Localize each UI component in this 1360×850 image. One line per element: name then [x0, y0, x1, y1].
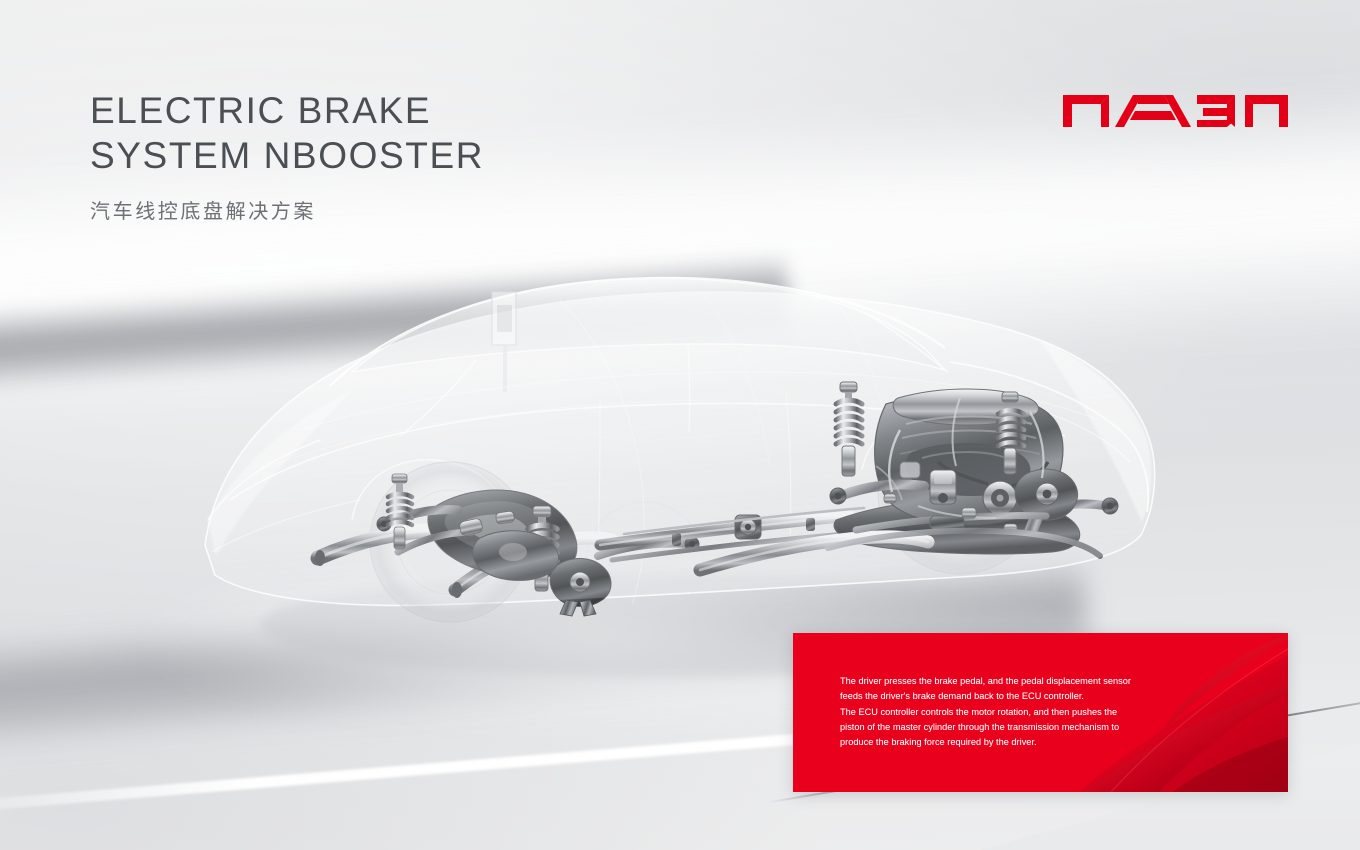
- nasn-logo-mark: [1063, 85, 1288, 130]
- callout-line-5: produce the braking force required by th…: [840, 735, 1140, 750]
- callout-text: The driver presses the brake pedal, and …: [840, 674, 1140, 750]
- page-subtitle: 汽车线控底盘解决方案: [90, 195, 710, 224]
- callout-line-3: The ECU controller controls the motor ro…: [840, 705, 1140, 720]
- nasn-logo: [1063, 85, 1288, 130]
- callout-panel: The driver presses the brake pedal, and …: [793, 633, 1288, 792]
- page-title-line-1: ELECTRIC BRAKE: [90, 88, 710, 133]
- page-title-line-2: SYSTEM NBOOSTER: [90, 133, 710, 178]
- callout-line-2: feeds the driver's brake demand back to …: [840, 689, 1140, 704]
- page-header: ELECTRIC BRAKE SYSTEM NBOOSTER 汽车线控底盘解决方…: [90, 88, 710, 224]
- presentation-slide: ELECTRIC BRAKE SYSTEM NBOOSTER 汽车线控底盘解决方…: [0, 0, 1360, 850]
- callout-line-1: The driver presses the brake pedal, and …: [840, 674, 1140, 689]
- callout-line-4: piston of the master cylinder through th…: [840, 720, 1140, 735]
